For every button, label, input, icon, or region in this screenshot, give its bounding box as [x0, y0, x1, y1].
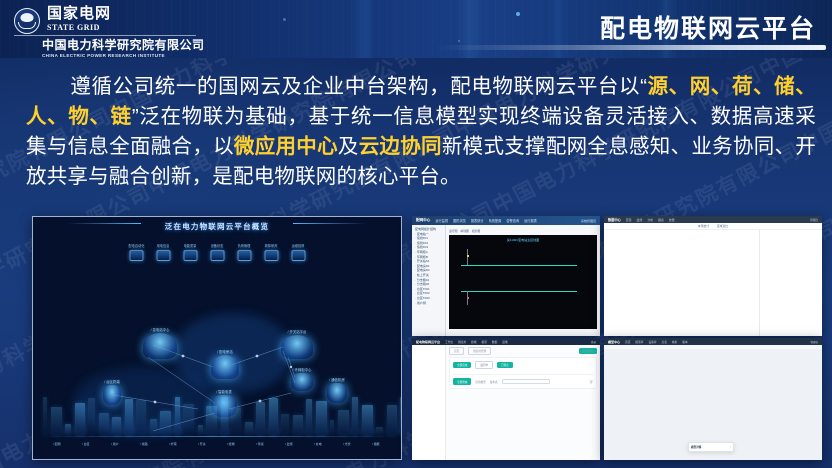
scada-app-title: 配网中心 [416, 218, 430, 223]
cityscape-building [88, 398, 95, 435]
header-accent-bar [436, 45, 826, 50]
overview-toolbar-item[interactable]: 用电信息 [156, 243, 171, 261]
header-dot-icon [283, 18, 286, 21]
overview-node-label: / 开关站平台 [271, 329, 323, 334]
charts-menu-item[interactable]: 报表 [658, 218, 664, 222]
paragraph-highlight: 云边协同 [359, 135, 442, 158]
overview-title: 泛在电力物联网云平台概览 [33, 221, 401, 232]
list-search-input[interactable] [502, 379, 550, 384]
overview-icon-row[interactable]: 配电自动化用电信息电能质量设备状态负荷管理故障研判运维检修 [129, 243, 306, 261]
list-menu-item[interactable]: 微应用 [458, 340, 466, 344]
overview-node[interactable]: / 变电站中心 [133, 327, 187, 359]
scada-tab[interactable]: 拓扑图 [472, 229, 480, 233]
cityscape-building [75, 403, 85, 435]
list-top-bar[interactable]: 配电物联网云平台 工作台 微应用 终端 模型 数据 运维 登录 [412, 338, 600, 345]
header-dot-icon [516, 12, 520, 16]
popup-title: 模型详情 [691, 445, 701, 449]
cityscape-building [125, 399, 133, 435]
overview-node-shape [211, 355, 239, 379]
cityscape-building [43, 397, 47, 435]
list-menu-item[interactable]: 工作台 [445, 340, 453, 344]
cityscape-label: / 传感 [256, 442, 264, 446]
tool-icon [291, 250, 305, 261]
brand-name-en: STATE GRID [47, 23, 111, 32]
filter-label: 应用类型 [475, 380, 485, 384]
list-menu-item[interactable]: 数据 [492, 340, 497, 344]
scada-tab[interactable]: 运行图 [449, 229, 457, 233]
overview-toolbar-label: 设备状态 [210, 243, 225, 248]
close-icon[interactable]: × [730, 446, 731, 449]
cards-menu-item[interactable]: 首页 [625, 340, 630, 344]
grid-icon [129, 250, 143, 261]
scada-tree-panel[interactable]: 配电网拓扑结构 · 变电站一· 馈线F01· 馈线F02· 馈线F03· 环网柜… [412, 225, 446, 336]
cityscape-building [160, 411, 171, 435]
scada-menu-item[interactable]: 报表统计 [471, 218, 484, 223]
charts-filter[interactable]: 本月统计 [698, 224, 709, 228]
cityscape-building [51, 407, 62, 435]
cityscape-building [175, 397, 180, 435]
overview-toolbar-item[interactable]: 运维检修 [291, 243, 306, 261]
cityscape-building [221, 397, 228, 435]
scada-tab-strip[interactable]: 运行图 单线图 拓扑图 [449, 228, 597, 233]
charts-menu-item[interactable]: 告警 [669, 218, 675, 222]
paragraph-text: 遵循公司统一的国网云及企业中台架构，配电物联网云平台以“ [70, 75, 647, 98]
overview-toolbar-item[interactable]: 设备状态 [210, 243, 225, 261]
scada-menu-item[interactable]: 图形浏览 [453, 218, 466, 223]
cityscape-building [400, 397, 402, 435]
charts-grid [604, 230, 760, 336]
list-view-toggle-alt[interactable]: 已停止 [497, 362, 513, 368]
slide-header: 国家电网 STATE GRID 中国电力科学研究院有限公司 CHINA ELEC… [0, 0, 832, 58]
list-menu-item[interactable]: 运维 [502, 340, 507, 344]
cityscape-building [183, 404, 194, 435]
filter-label: 发布者 [490, 380, 498, 384]
overview-toolbar-label: 用电信息 [156, 243, 171, 248]
scada-tree-item[interactable]: · 用户侧 [415, 301, 443, 306]
screenshot-platform-overview[interactable]: 泛在电力物联网云平台概览 配电自动化用电信息电能质量设备状态负荷管理故障研判运维… [32, 216, 402, 460]
cityscape-label: / 终端 [227, 442, 235, 446]
cityscape-label: / 开关 [198, 442, 206, 446]
cityscape-building [245, 422, 253, 435]
overview-cityscape: / 配网/ 台区/ 用户/ 线路/ 杆塔/ 开关/ 终端/ 传感/ 监测/ 充电… [39, 389, 395, 449]
cards-menu-item[interactable]: 模型库 [635, 340, 643, 344]
scada-feeder-line [467, 249, 468, 265]
charts-menu-item[interactable]: 分析 [647, 218, 653, 222]
charts-filter-bar[interactable]: 本月统计 区域对比 [604, 223, 822, 230]
scada-diagram-title: 某110kV变电站主接线图 [449, 238, 597, 242]
cityscape-label: / 杆塔 [169, 442, 177, 446]
overview-toolbar-label: 负荷管理 [237, 243, 252, 248]
scada-busbar [461, 291, 577, 292]
cityscape-building [256, 402, 265, 435]
new-app-button[interactable]: 新建应用 [579, 348, 597, 354]
page-title: 配电物联网云平台 [600, 9, 816, 45]
list-app-title: 配电物联网云平台 [416, 340, 440, 344]
brand-block: 国家电网 STATE GRID [14, 6, 111, 34]
scada-user-label[interactable]: 系统管理员 [581, 219, 596, 223]
cityscape-building [387, 405, 397, 435]
scada-menu-item[interactable]: 运行报表 [524, 218, 537, 223]
charts-pie-column [760, 230, 822, 336]
cityscape-building [293, 415, 303, 435]
screenshot-microapp-list[interactable]: 配电物联网云平台 工作台 微应用 终端 模型 数据 运维 登录 首页 微应用管理… [412, 338, 600, 460]
list-sidebar[interactable] [412, 345, 446, 460]
cityscape-building [150, 419, 157, 435]
cityscape-label: / 充电 [314, 442, 322, 446]
overview-node-label: / 配电房站 [201, 349, 249, 354]
alert-icon [264, 250, 278, 261]
cards-menu-item[interactable]: 设备库 [648, 340, 656, 344]
paragraph-text: 及 [338, 135, 359, 158]
overview-node[interactable]: / 开关站平台 [271, 329, 323, 359]
list-user-label[interactable]: 登录 [591, 340, 596, 344]
status-filter-button[interactable]: 全部状态 [453, 378, 471, 384]
delete-icon[interactable]: 🗑 [589, 380, 593, 384]
cityscape-label: / 监测 [285, 442, 293, 446]
brand-name-cn: 国家电网 [47, 6, 111, 23]
list-tab-strip[interactable] [453, 372, 593, 375]
cityscape-building [99, 413, 109, 435]
cityscape-building [136, 400, 146, 435]
institute-name-cn: 中国电力科学研究院有限公司 [42, 39, 205, 53]
cityscape-building [352, 397, 358, 435]
overview-node-label: / 通信机房 [317, 377, 357, 382]
screenshot-scada-single-line[interactable]: 配网中心 运行监视 图形浏览 报表统计 系统配置 告警查询 运行报表 系统管理员… [412, 216, 600, 336]
cityscape-label: / 配网 [53, 442, 61, 446]
overview-toolbar-item[interactable]: 故障研判 [264, 243, 279, 261]
card-detail-popup[interactable]: 模型详情 × [688, 442, 734, 452]
overview-toolbar-label: 运维检修 [291, 243, 306, 248]
charts-top-bar[interactable]: 数据中心 首页 监测 分析 报表 告警 管理员 [604, 216, 822, 223]
list-menu-item[interactable]: 终端 [471, 340, 476, 344]
cityscape-building [269, 398, 278, 435]
scada-switch-icon [467, 297, 469, 299]
cards-top-bar[interactable]: 模型中心 首页 模型库 设备库 点表 映射 版本 管理员 [604, 338, 822, 345]
cityscape-label: / 光伏 [343, 442, 351, 446]
cityscape-building [231, 408, 241, 435]
list-filter-row[interactable]: 全部状态 应用类型 发布者 🗑 [453, 378, 593, 384]
list-card: 全部应用 运行中 已停止 全部状态 应用类型 发布者 🗑 [449, 357, 597, 389]
meter-icon [156, 250, 170, 261]
institute-name-en: CHINA ELECTRIC POWER RESEARCH INSTITUTE [42, 53, 205, 58]
brand-divider [14, 35, 196, 36]
scada-switch-icon [467, 255, 469, 257]
cityscape-building [338, 410, 349, 435]
cityscape-building [306, 399, 312, 435]
overview-toolbar-item[interactable]: 配电自动化 [129, 243, 144, 261]
breadcrumb-item[interactable]: 首页 [449, 347, 464, 355]
screenshot-analytics-dashboard[interactable]: 数据中心 首页 监测 分析 报表 告警 管理员 本月统计 区域对比 [604, 216, 822, 336]
cityscape-building [198, 425, 203, 435]
scada-menu-item[interactable]: 系统配置 [489, 218, 502, 223]
institute-block: 中国电力科学研究院有限公司 CHINA ELECTRIC POWER RESEA… [42, 39, 205, 58]
wave-icon [183, 250, 197, 261]
overview-node-label: / 变电站中心 [133, 327, 187, 332]
paragraph-highlight: 微应用中心 [234, 135, 338, 158]
cityscape-label: / 线路 [140, 442, 148, 446]
cityscape-building [316, 401, 327, 435]
cards-app-title: 模型中心 [608, 340, 620, 344]
overview-toolbar-label: 电能质量 [183, 243, 198, 248]
screenshot-model-cards[interactable]: 模型中心 首页 模型库 设备库 点表 映射 版本 管理员 模型详情 × [604, 338, 822, 460]
overview-node-shape [281, 335, 313, 359]
overview-toolbar-label: 配电自动化 [129, 243, 144, 248]
overview-node-shape [143, 333, 177, 359]
overview-toolbar-item[interactable]: 电能质量 [183, 243, 198, 261]
scada-diagram-canvas[interactable]: 某110kV变电站主接线图 [449, 235, 597, 329]
cityscape-building [112, 417, 121, 435]
overview-toolbar-item[interactable]: 负荷管理 [237, 243, 252, 261]
cards-menu-item[interactable]: 版本 [682, 340, 687, 344]
cards-menu-item[interactable]: 映射 [672, 340, 677, 344]
list-menu-item[interactable]: 模型 [482, 340, 487, 344]
cityscape-label: / 用户 [111, 442, 119, 446]
cityscape-label: / 台区 [82, 442, 90, 446]
overview-node-label: / 环网柜中心 [281, 367, 323, 372]
cityscape-building [362, 405, 373, 435]
charts-filter[interactable]: 区域对比 [717, 224, 728, 228]
scada-menu-item[interactable]: 告警查询 [506, 218, 519, 223]
charts-menu-item[interactable]: 监测 [637, 218, 643, 222]
cards-user-label[interactable]: 管理员 [810, 340, 818, 344]
cards-menu-item[interactable]: 点表 [662, 340, 667, 344]
device-icon [210, 250, 224, 261]
charts-app-title: 数据中心 [608, 217, 621, 222]
scada-top-bar[interactable]: 配网中心 运行监视 图形浏览 报表统计 系统配置 告警查询 运行报表 系统管理员 [412, 216, 600, 225]
overview-node[interactable]: / 配电房站 [201, 349, 249, 379]
scada-tab[interactable]: 单线图 [460, 229, 468, 233]
state-grid-logo-icon [14, 8, 40, 34]
list-view-toggle[interactable]: 运行中 [475, 361, 493, 369]
list-breadcrumb: 首页 微应用管理 新建应用 [449, 348, 597, 354]
list-view-toggle-active[interactable]: 全部应用 [453, 362, 471, 368]
cityscape-building [65, 424, 71, 435]
cityscape-building [330, 420, 334, 435]
charts-menu-item[interactable]: 首页 [626, 218, 632, 222]
load-icon [237, 250, 251, 261]
body-paragraph: 遵循公司统一的国网云及企业中台架构，配电物联网云平台以“源、网、荷、储、人、物、… [26, 72, 816, 192]
scada-busbar [461, 265, 577, 266]
charts-user-label[interactable]: 管理员 [810, 218, 818, 222]
cards-grid[interactable] [604, 345, 822, 349]
breadcrumb-item[interactable]: 微应用管理 [468, 347, 491, 355]
slide-page: 中国电力科学研究院有限公司中国电力科学研究院有限公司中国电力科学研究院有限公司中… [0, 0, 832, 468]
overview-node-label: / 台区终端 [93, 379, 131, 384]
cityscape-building [281, 414, 289, 435]
header-dot-icon [458, 40, 460, 42]
cityscape-building [206, 406, 217, 435]
cityscape-building [376, 427, 383, 435]
cityscape-label: / 储能 [372, 442, 380, 446]
scada-menu-item[interactable]: 运行监视 [435, 218, 448, 223]
overview-toolbar-label: 故障研判 [264, 243, 279, 248]
